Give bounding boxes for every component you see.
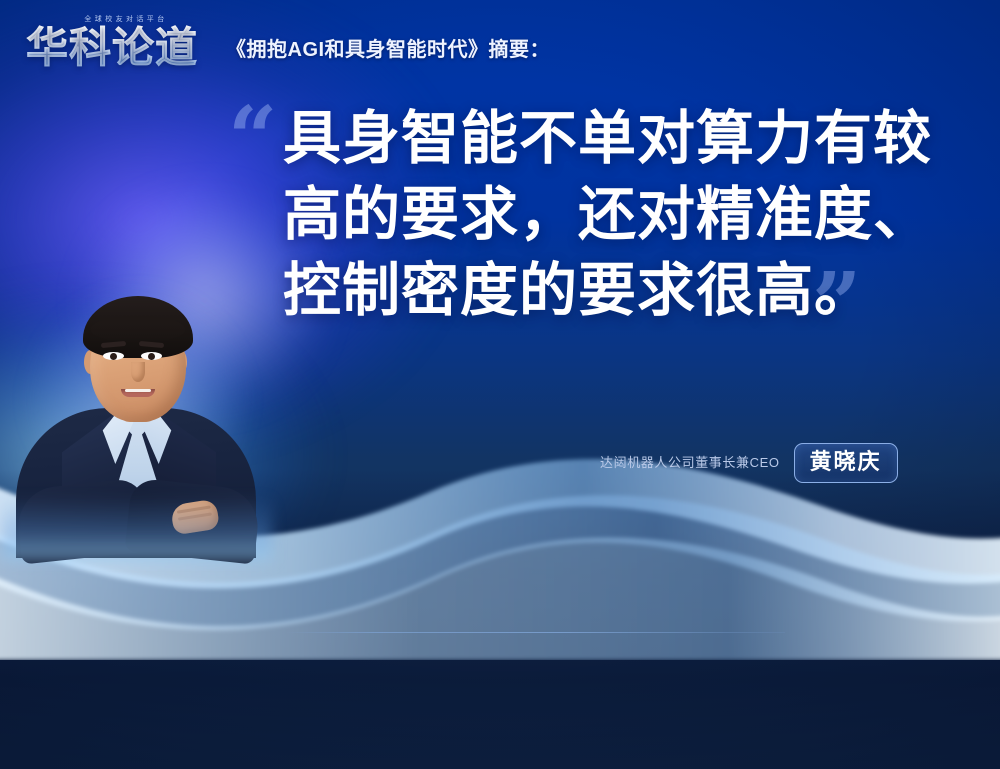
portrait-mouth xyxy=(121,389,155,397)
poster-canvas: 全球校友对话平台 华科论道 《拥抱AGI和具身智能时代》摘要： “ 具身智能不单… xyxy=(0,0,1000,769)
portrait-nose xyxy=(131,362,145,382)
speaker-role: 达闼机器人公司董事长兼CEO xyxy=(600,453,780,473)
quote-line: 高的要求，还对精准度、 xyxy=(283,176,963,252)
footer-divider xyxy=(285,632,785,633)
poster-header: 全球校友对话平台 华科论道 《拥抱AGI和具身智能时代》摘要： xyxy=(0,0,1000,92)
quote-open-mark: “ xyxy=(228,96,275,182)
quote-line: 具身智能不单对算力有较 xyxy=(283,100,963,176)
speaker-portrait xyxy=(22,288,248,556)
poster-footer: 入群请咨询工作人员： 微信号 srh15029033920 (苏同学) 微信号 … xyxy=(0,640,1000,769)
portrait-bottom-fade xyxy=(2,496,272,560)
quote-text: 具身智能不单对算力有较 高的要求，还对精准度、 控制密度的要求很高。 xyxy=(283,100,963,328)
page-title: 《拥抱AGI和具身智能时代》摘要： xyxy=(226,38,550,62)
brand-logo[interactable]: 全球校友对话平台 华科论道 xyxy=(26,14,218,72)
logo-wordmark: 华科论道 xyxy=(26,23,198,72)
speaker-name-badge: 黄晓庆 xyxy=(794,443,898,483)
speaker-attribution: 达闼机器人公司董事长兼CEO 黄晓庆 xyxy=(600,443,898,483)
quote-line: 控制密度的要求很高。 xyxy=(283,252,963,328)
portrait-eye-right xyxy=(141,352,162,360)
portrait-eye-left xyxy=(103,352,124,360)
